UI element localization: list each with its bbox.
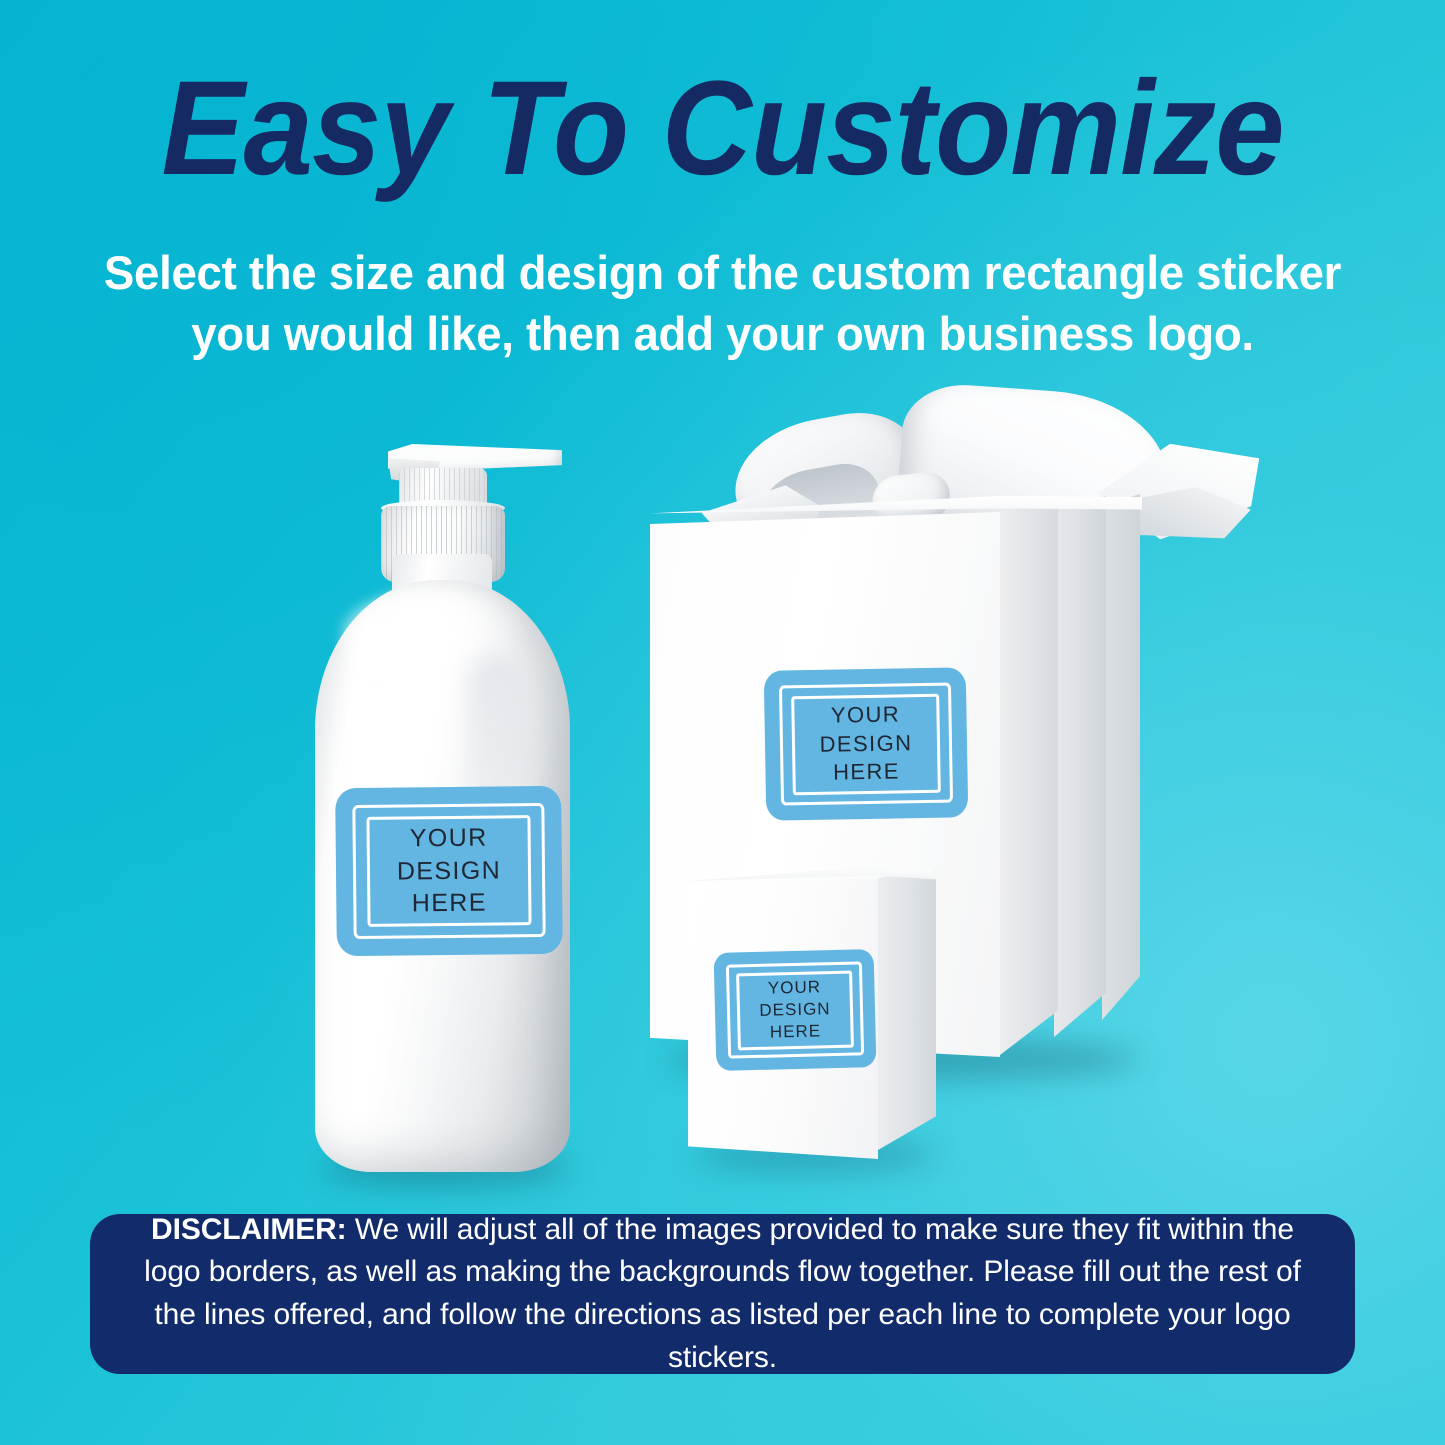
- sticker-line-2: DESIGN: [759, 998, 831, 1022]
- sticker-line-1: YOUR: [410, 822, 488, 855]
- disclaimer-label: DISCLAIMER:: [151, 1213, 347, 1246]
- sticker-line-2: DESIGN: [397, 854, 502, 888]
- sticker-text-block: YOUR DESIGN HERE: [335, 786, 563, 956]
- sticker-line-3: HERE: [833, 758, 900, 788]
- disclaimer-text: DISCLAIMER: We will adjust all of the im…: [126, 1209, 1319, 1379]
- sticker-bottle[interactable]: YOUR DESIGN HERE: [335, 786, 563, 956]
- sticker-line-2: DESIGN: [819, 729, 912, 759]
- sticker-text-block: YOUR DESIGN HERE: [714, 949, 877, 1071]
- sticker-giftbox[interactable]: YOUR DESIGN HERE: [764, 667, 969, 821]
- small-box-side-panel: [878, 870, 936, 1150]
- sticker-line-1: YOUR: [831, 701, 901, 731]
- gift-box-side-panel-mid: [1054, 496, 1106, 1048]
- gift-box-side-panel: [1000, 500, 1058, 1055]
- gift-box-side-panel-far: [1102, 494, 1140, 1042]
- sticker-line-3: HERE: [412, 887, 487, 920]
- sticker-line-1: YOUR: [768, 976, 822, 999]
- sticker-line-3: HERE: [770, 1020, 822, 1043]
- disclaimer-banner: DISCLAIMER: We will adjust all of the im…: [90, 1214, 1355, 1374]
- sticker-text-block: YOUR DESIGN HERE: [764, 667, 969, 821]
- sticker-smallbox[interactable]: YOUR DESIGN HERE: [714, 949, 877, 1071]
